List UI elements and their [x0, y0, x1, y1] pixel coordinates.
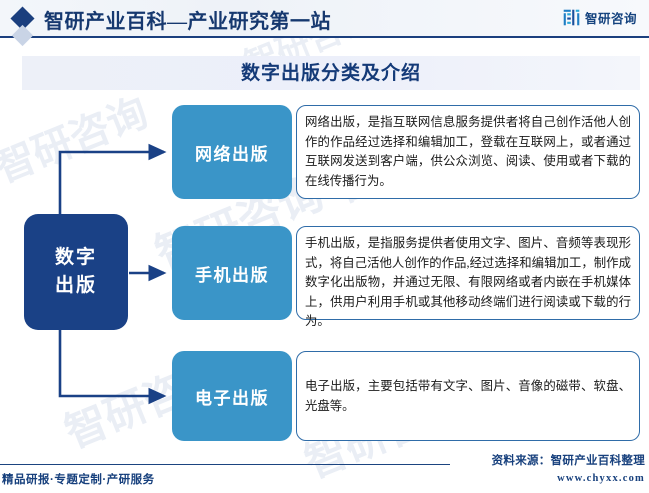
page-title: 数字出版分类及介绍: [22, 58, 640, 85]
category-node-mobile-publishing[interactable]: 手机出版: [172, 226, 292, 320]
category-label: 电子出版: [195, 384, 269, 409]
footer-divider: [0, 464, 450, 465]
root-node-line2: 出版: [55, 272, 97, 301]
description-box-electronic-publishing: 电子出版，主要包括带有文字、图片、音像的磁带、软盘、光盘等。: [296, 351, 640, 441]
root-node-digital-publishing[interactable]: 数字 出版: [24, 214, 128, 330]
footer-slogan: 精品研报·专题定制·产研服务: [2, 471, 155, 487]
diamond-icon: [10, 6, 34, 30]
category-node-network-publishing[interactable]: 网络出版: [172, 105, 292, 199]
zhiyan-logo-icon: [563, 9, 580, 26]
category-label: 网络出版: [195, 140, 269, 165]
category-node-electronic-publishing[interactable]: 电子出版: [172, 351, 292, 441]
description-box-network-publishing: 网络出版，是指互联网信息服务提供者将自己创作活他人创作的作品经过选择和编辑加工，…: [296, 105, 640, 199]
brand-name: 智研咨询: [585, 8, 637, 27]
footer-url: www.chyxx.com: [557, 473, 645, 484]
root-node-line1: 数字: [55, 244, 97, 273]
diagram-area: 数字 出版 网络出版 手机出版 电子出版 网络出版，是指互联网信息服务提供者将自…: [0, 95, 649, 445]
site-title: 智研产业百科—产业研究第一站: [44, 5, 331, 34]
source-note: 资料来源：智研产业百科整理: [492, 452, 645, 468]
category-label: 手机出版: [195, 261, 269, 286]
description-text: 网络出版，是指互联网信息服务提供者将自己创作活他人创作的作品经过选择和编辑加工，…: [305, 113, 631, 191]
brand-block: 智研咨询: [563, 8, 637, 27]
description-text: 电子出版，主要包括带有文字、图片、音像的磁带、软盘、光盘等。: [305, 377, 631, 416]
page-header: 智研产业百科—产业研究第一站 智研咨询: [0, 0, 649, 38]
description-box-mobile-publishing: 手机出版，是指服务提供者使用文字、图片、音频等表现形式，将自己活他人创作的作品,…: [296, 226, 640, 320]
description-text: 手机出版，是指服务提供者使用文字、图片、音频等表现形式，将自己活他人创作的作品,…: [305, 234, 631, 332]
